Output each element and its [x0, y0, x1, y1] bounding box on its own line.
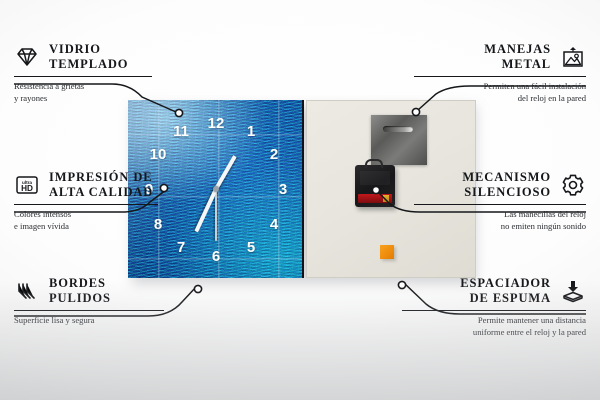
feature-header: BORDES PULIDOS: [14, 276, 186, 306]
quartz-movement-box: [355, 165, 395, 207]
feature-divider: [402, 310, 586, 311]
feature-mecanismo-silencioso[interactable]: MECANISMO SILENCIOSO Las manecillas del …: [414, 170, 586, 232]
feature-header: MECANISMO SILENCIOSO: [414, 170, 586, 200]
feature-vidrio-templado[interactable]: VIDRIO TEMPLADO Resistencia a grietas y …: [14, 42, 176, 104]
feature-title: VIDRIO TEMPLADO: [49, 42, 128, 72]
foam-spacer-icon: [560, 278, 586, 304]
feature-bordes-pulidos[interactable]: BORDES PULIDOS Superficie lisa y segura: [14, 276, 186, 326]
clock-center-cap: [213, 186, 219, 192]
clock-numeral-11: 11: [171, 124, 191, 139]
feature-title: BORDES PULIDOS: [49, 276, 111, 306]
feature-header: ultra HD IMPRESIÓN DE ALTA CALIDAD: [14, 170, 182, 200]
battery-label: [358, 194, 392, 203]
infographic-stage: 12 1 2 3 4 5 6 7 8 9 10 11: [0, 0, 600, 400]
feature-divider: [414, 204, 586, 205]
movement-housing-detail: [360, 171, 390, 185]
clock-numeral-5: 5: [241, 240, 261, 255]
ultra-hd-icon: ultra HD: [14, 172, 40, 198]
clock-numeral-2: 2: [264, 147, 284, 162]
clock-numeral-12: 12: [206, 116, 226, 131]
clock-numeral-4: 4: [264, 217, 284, 232]
diamond-icon: [14, 44, 40, 70]
clock-numeral-6: 6: [206, 249, 226, 264]
feature-title: ESPACIADOR DE ESPUMA: [460, 276, 551, 306]
metal-hanger-plate: [371, 115, 427, 165]
clock-numeral-10: 10: [148, 147, 168, 162]
feature-description: Colores intensos e imagen vívida: [14, 208, 182, 232]
foam-spacer: [380, 245, 394, 259]
feature-title: MANEJAS METAL: [484, 42, 551, 72]
hanger-keyhole-slot: [383, 126, 413, 132]
feature-description: Superficie lisa y segura: [14, 314, 186, 326]
feature-divider: [414, 76, 586, 77]
connector-dot-bordes: [194, 285, 201, 292]
feature-manejas-metal[interactable]: MANEJAS METAL Permiten una fácil instala…: [414, 42, 586, 104]
polished-edges-icon: [14, 278, 40, 304]
feature-espaciador-de-espuma[interactable]: ESPACIADOR DE ESPUMA Permite mantener un…: [402, 276, 586, 338]
clock-numeral-3: 3: [273, 182, 293, 197]
gear-icon: [560, 172, 586, 198]
feature-title: MECANISMO SILENCIOSO: [462, 170, 551, 200]
clock-numeral-7: 7: [171, 240, 191, 255]
feature-impresion-alta-calidad[interactable]: ultra HD IMPRESIÓN DE ALTA CALIDAD Color…: [14, 170, 182, 232]
feature-description: Resistencia a grietas y rayones: [14, 80, 176, 104]
svg-text:HD: HD: [21, 184, 33, 193]
feature-divider: [14, 76, 152, 77]
clock-numeral-1: 1: [241, 124, 261, 139]
feature-header: VIDRIO TEMPLADO: [14, 42, 176, 72]
feature-description: Permite mantener una distancia uniforme …: [402, 314, 586, 338]
feature-title: IMPRESIÓN DE ALTA CALIDAD: [49, 170, 153, 200]
feature-header: ESPACIADOR DE ESPUMA: [402, 276, 586, 306]
picture-hanger-icon: [560, 44, 586, 70]
feature-header: MANEJAS METAL: [414, 42, 586, 72]
feature-divider: [14, 310, 164, 311]
movement-hanging-loop: [365, 159, 383, 168]
feature-description: Las manecillas del reloj no emiten ningú…: [414, 208, 586, 232]
feature-divider: [14, 204, 158, 205]
feature-description: Permiten una fácil instalación del reloj…: [414, 80, 586, 104]
